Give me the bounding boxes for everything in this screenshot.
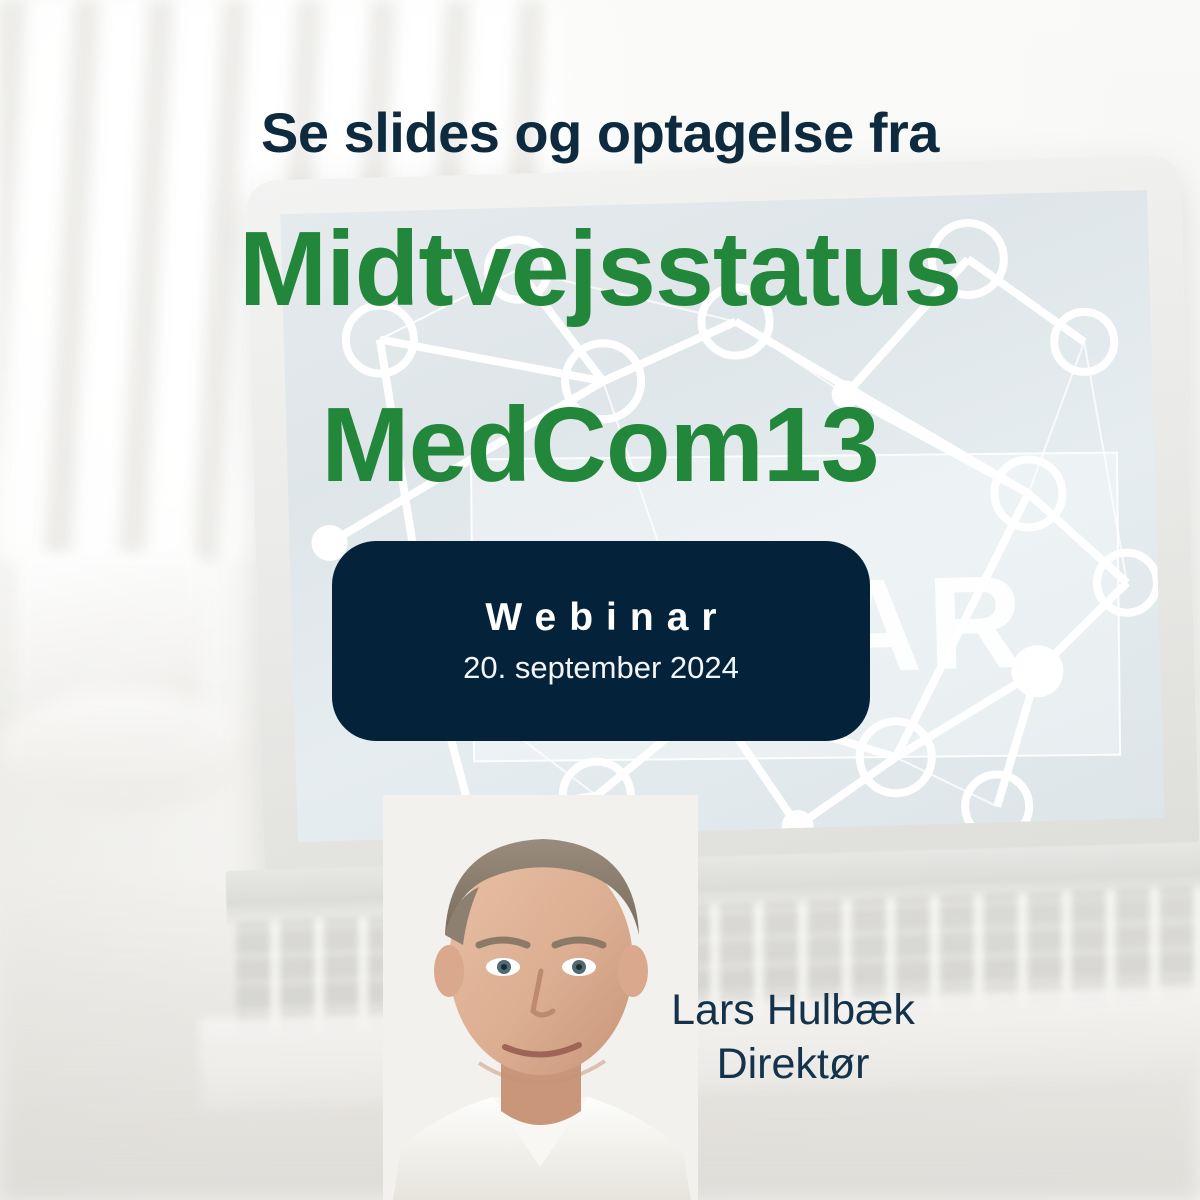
speaker-name: Lars Hulbæk (618, 985, 968, 1037)
webinar-badge: Webinar 20. september 2024 (332, 541, 870, 741)
badge-date: 20. september 2024 (463, 650, 739, 686)
coffee-saucer (0, 690, 250, 810)
webinar-poster: WEBINAR Se slides og optagelse fra Midtv… (0, 0, 1200, 1200)
kicker-text: Se slides og optagelse fra (0, 100, 1200, 165)
speaker-role: Direktør (618, 1037, 968, 1093)
title-line-1: Midtvejsstatus (0, 216, 1200, 322)
badge-label: Webinar (472, 596, 729, 640)
title-line-2: MedCom13 (0, 392, 1200, 498)
speaker-info: Lars Hulbæk Direktør (618, 985, 968, 1092)
